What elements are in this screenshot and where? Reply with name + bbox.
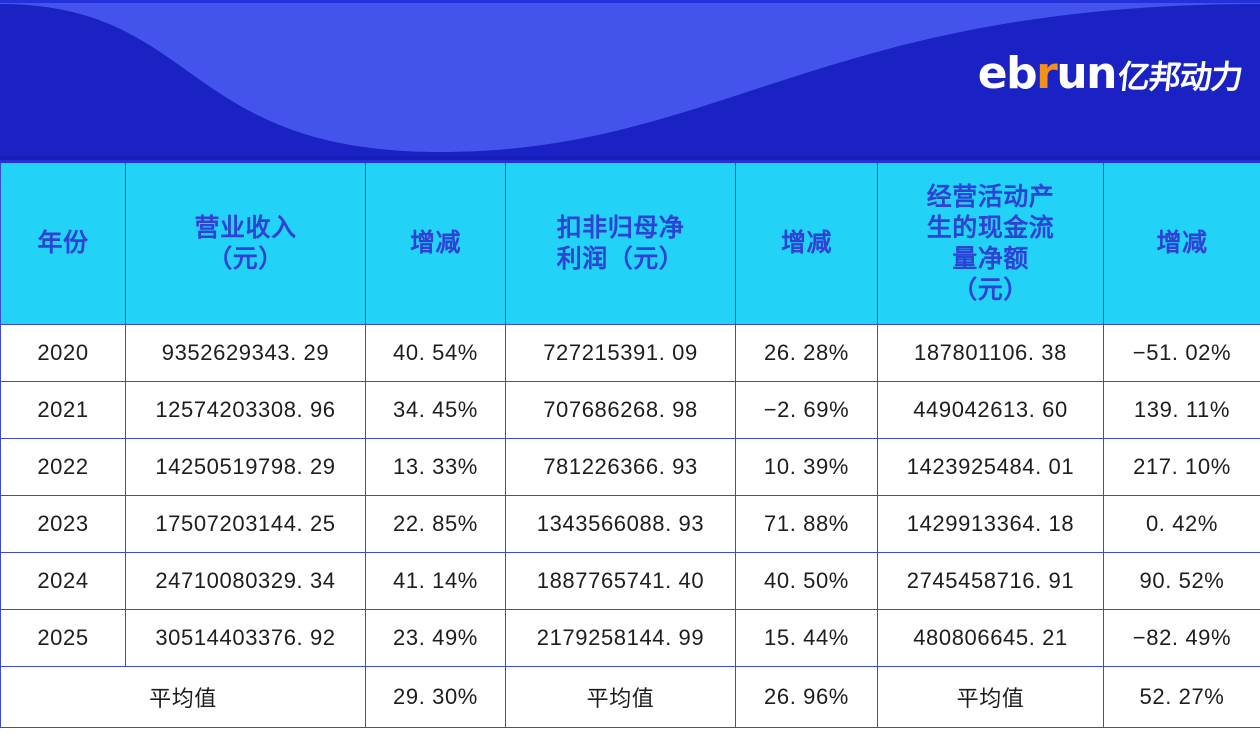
column-header-operating-cashflow: 经营活动产 生的现金流 量净额 （元）: [878, 162, 1104, 325]
column-header-profit-change: 增减: [736, 162, 878, 325]
financial-table-container: 年份 营业收入 （元） 增减 扣非归母净 利润（元） 增减 经营活动产 生的现金…: [0, 160, 1260, 734]
cell-year: 2021: [1, 382, 126, 439]
cell-cashflow: 1423925484. 01: [878, 439, 1104, 496]
cell-revenue-change: 40. 54%: [366, 325, 506, 382]
cell-revenue: 12574203308. 96: [126, 382, 366, 439]
logo-wordmark: ebrun: [978, 52, 1116, 96]
cell-revenue-change: 23. 49%: [366, 610, 506, 667]
cell-average-label-profit: 平均值: [506, 667, 736, 728]
column-header-revenue-change: 增减: [366, 162, 506, 325]
cell-cashflow-change: 217. 10%: [1104, 439, 1260, 496]
column-header-revenue: 营业收入 （元）: [126, 162, 366, 325]
header-label: 增减: [781, 229, 832, 257]
cell-cashflow: 480806645. 21: [878, 610, 1104, 667]
cell-revenue: 9352629343. 29: [126, 325, 366, 382]
cell-revenue-change: 41. 14%: [366, 553, 506, 610]
logo-accent-letter: r: [1036, 48, 1056, 99]
header-label: 增减: [1156, 229, 1207, 257]
cell-revenue-change: 22. 85%: [366, 496, 506, 553]
table-row: 2022 14250519798. 29 13. 33% 781226366. …: [1, 439, 1260, 496]
cell-year: 2024: [1, 553, 126, 610]
cell-average-cashflow-change: 52. 27%: [1104, 667, 1260, 728]
cell-average-label-cashflow: 平均值: [878, 667, 1104, 728]
column-header-year: 年份: [1, 162, 126, 325]
cell-profit-change: −2. 69%: [736, 382, 878, 439]
table-row: 2024 24710080329. 34 41. 14% 1887765741.…: [1, 553, 1260, 610]
cell-year: 2022: [1, 439, 126, 496]
cell-year: 2025: [1, 610, 126, 667]
table-header-row: 年份 营业收入 （元） 增减 扣非归母净 利润（元） 增减 经营活动产 生的现金…: [1, 162, 1260, 325]
table-row: 2025 30514403376. 92 23. 49% 2179258144.…: [1, 610, 1260, 667]
cell-cashflow-change: −51. 02%: [1104, 325, 1260, 382]
table-row: 2021 12574203308. 96 34. 45% 707686268. …: [1, 382, 1260, 439]
cell-profit-change: 71. 88%: [736, 496, 878, 553]
header-label: 经营活动产 生的现金流 量净额 （元）: [927, 183, 1055, 304]
cell-average-revenue-change: 29. 30%: [366, 667, 506, 728]
page-banner: ebrun 亿邦动力: [0, 0, 1260, 160]
cell-net-profit: 707686268. 98: [506, 382, 736, 439]
cell-year: 2020: [1, 325, 126, 382]
column-header-net-profit: 扣非归母净 利润（元）: [506, 162, 736, 325]
cell-net-profit: 781226366. 93: [506, 439, 736, 496]
cell-profit-change: 40. 50%: [736, 553, 878, 610]
cell-net-profit: 2179258144. 99: [506, 610, 736, 667]
cell-cashflow: 1429913364. 18: [878, 496, 1104, 553]
cell-average-label-revenue: 平均值: [1, 667, 366, 728]
cell-cashflow: 187801106. 38: [878, 325, 1104, 382]
financial-summary-table: 年份 营业收入 （元） 增减 扣非归母净 利润（元） 增减 经营活动产 生的现金…: [0, 160, 1260, 728]
cell-revenue-change: 13. 33%: [366, 439, 506, 496]
table-row: 2023 17507203144. 25 22. 85% 1343566088.…: [1, 496, 1260, 553]
ebrun-logo: ebrun 亿邦动力: [978, 52, 1242, 96]
cell-net-profit: 727215391. 09: [506, 325, 736, 382]
cell-cashflow-change: 0. 42%: [1104, 496, 1260, 553]
cell-revenue: 14250519798. 29: [126, 439, 366, 496]
header-label: 增减: [410, 229, 461, 257]
cell-revenue-change: 34. 45%: [366, 382, 506, 439]
logo-chinese-name: 亿邦动力: [1116, 61, 1243, 93]
cell-profit-change: 10. 39%: [736, 439, 878, 496]
column-header-cashflow-change: 增减: [1104, 162, 1260, 325]
banner-top-rule: [0, 0, 1260, 3]
cell-revenue: 24710080329. 34: [126, 553, 366, 610]
cell-cashflow-change: 90. 52%: [1104, 553, 1260, 610]
cell-revenue: 30514403376. 92: [126, 610, 366, 667]
cell-cashflow-change: −82. 49%: [1104, 610, 1260, 667]
cell-cashflow-change: 139. 11%: [1104, 382, 1260, 439]
cell-cashflow: 449042613. 60: [878, 382, 1104, 439]
header-label: 年份: [37, 229, 88, 257]
banner-bottom-rule: [0, 156, 1260, 160]
cell-net-profit: 1343566088. 93: [506, 496, 736, 553]
cell-profit-change: 26. 28%: [736, 325, 878, 382]
cell-profit-change: 15. 44%: [736, 610, 878, 667]
table-average-row: 平均值 29. 30% 平均值 26. 96% 平均值 52. 27%: [1, 667, 1260, 728]
cell-cashflow: 2745458716. 91: [878, 553, 1104, 610]
cell-net-profit: 1887765741. 40: [506, 553, 736, 610]
cell-average-profit-change: 26. 96%: [736, 667, 878, 728]
table-row: 2020 9352629343. 29 40. 54% 727215391. 0…: [1, 325, 1260, 382]
header-label: 扣非归母净 利润（元）: [557, 214, 685, 273]
cell-year: 2023: [1, 496, 126, 553]
cell-revenue: 17507203144. 25: [126, 496, 366, 553]
header-label: 营业收入 （元）: [194, 214, 296, 273]
